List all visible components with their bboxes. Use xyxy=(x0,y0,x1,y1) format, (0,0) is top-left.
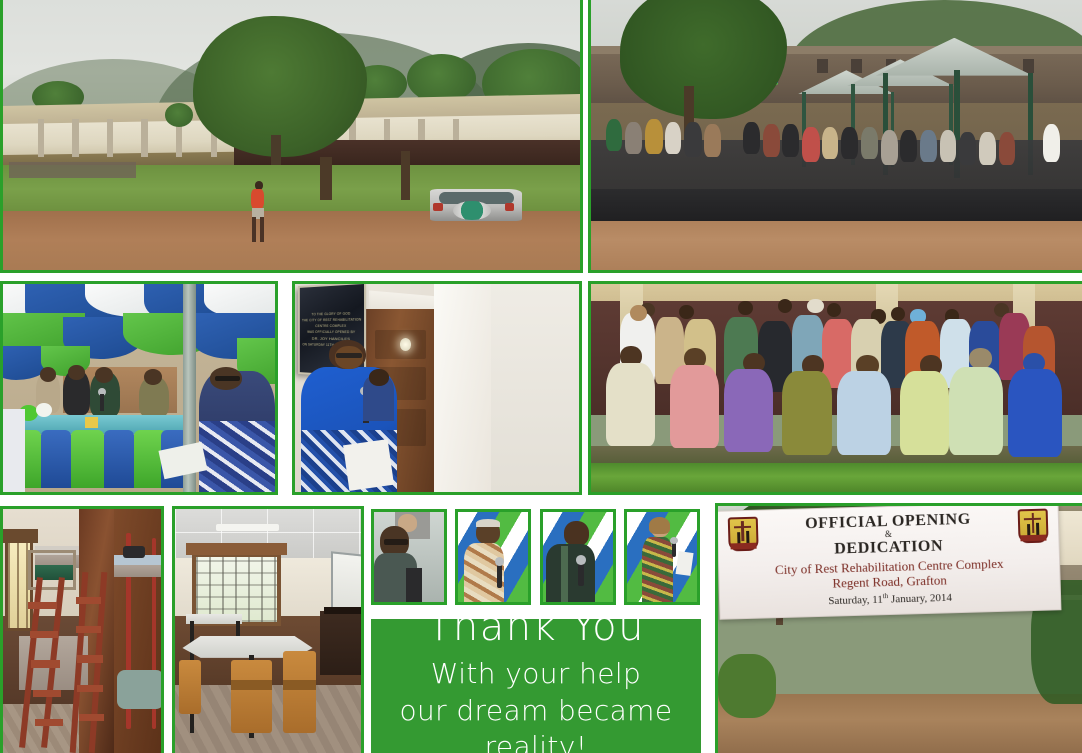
banner-org-line-2: Regent Road, Grafton xyxy=(832,572,947,591)
crowd-under-canopies-photo xyxy=(588,0,1082,273)
opening-banner-photo: OFFICIAL OPENING & DEDICATION City of Re… xyxy=(715,503,1082,753)
dining-room-photo xyxy=(172,506,364,753)
city-of-rest-logo-left xyxy=(728,517,759,552)
thank-you-panel: Thank You With your help our dream becam… xyxy=(371,619,701,753)
thumb-man-speaker xyxy=(540,509,616,605)
plaque-line-2: THE CITY OF REST REHABILITATION xyxy=(302,318,361,323)
thumb-elder-speaker xyxy=(455,509,531,605)
thumb-woman-speaker xyxy=(624,509,700,605)
city-of-rest-logo-right xyxy=(1018,509,1049,544)
decorated-tent-head-table-photo xyxy=(0,281,278,495)
opening-banner: OFFICIAL OPENING & DEDICATION City of Re… xyxy=(718,506,1062,619)
thank-you-title: Thank You xyxy=(427,606,645,648)
group-photo xyxy=(588,281,1082,495)
dormitory-bunk-beds-photo xyxy=(0,506,164,753)
banner-date: Saturday, 11th January, 2014 xyxy=(828,590,952,608)
thumb-seated-men xyxy=(371,509,447,605)
banner-headline-2: DEDICATION xyxy=(834,538,943,557)
thank-you-subtitle-line2: our dream became reality! xyxy=(371,693,701,753)
thank-you-subtitle-line1: With your help xyxy=(431,656,641,693)
plaque-line-3: CENTRE COMPLEX xyxy=(315,324,346,328)
banner-date-prefix: Saturday, 11 xyxy=(828,594,883,608)
plaque-line-4: WAS OFFICIALLY OPENED BY xyxy=(307,330,355,334)
plaque-line-1: TO THE GLORY OF GOD xyxy=(312,312,351,317)
school-building-field-photo xyxy=(0,0,583,273)
photo-collage: TO THE GLORY OF GOD THE CITY OF REST REH… xyxy=(0,0,1082,753)
woman-speaking-at-plaque-photo: TO THE GLORY OF GOD THE CITY OF REST REH… xyxy=(292,281,582,495)
banner-date-suffix: January, 2014 xyxy=(888,592,952,606)
